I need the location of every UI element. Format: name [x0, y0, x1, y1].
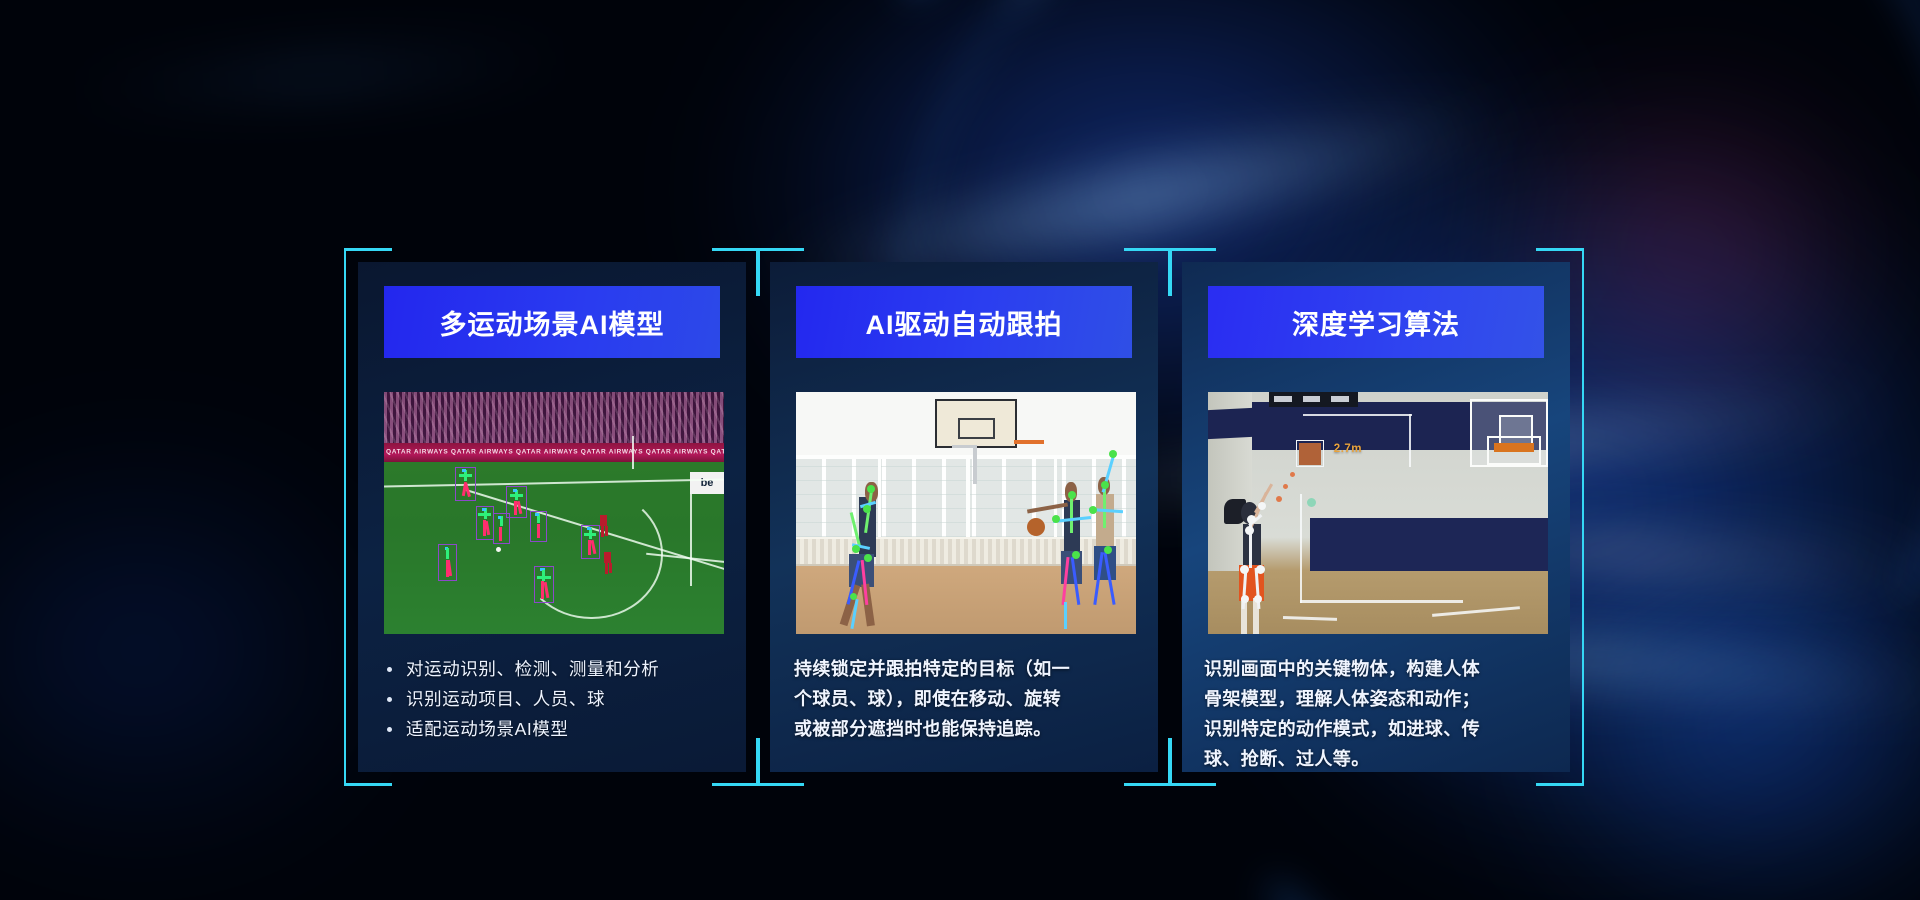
tracking-guide-post	[1300, 494, 1303, 603]
detected-ball	[1299, 443, 1321, 465]
frame-bracket-top-right	[1124, 248, 1172, 251]
scoreboard	[1269, 392, 1357, 407]
player-red-kit	[602, 552, 613, 574]
frame-bracket-bottom-right-stub	[1170, 738, 1172, 786]
paragraph-line: 球、抢断、过人等。	[1204, 744, 1548, 774]
feature-card-ai-auto-tracking[interactable]: AI驱动自动跟拍	[770, 262, 1158, 772]
card-description-2: 持续锁定并跟拍特定的目标（如一 个球员、球），即使在移动、旋转 或被部分遮挡时也…	[770, 654, 1158, 744]
detected-player	[455, 467, 475, 501]
skeleton-limb	[459, 474, 472, 477]
frame-right-rail	[1582, 248, 1584, 786]
detected-player	[530, 511, 547, 542]
paragraph-line: 识别特定的动作模式，如进球、传	[1204, 714, 1548, 744]
card-title-bar-2: AI驱动自动跟拍	[796, 286, 1132, 358]
basketball-hoop	[1014, 440, 1045, 444]
advertising-banner-text: QATAR AIRWAYS QATAR AIRWAYS QATAR AIRWAY…	[386, 449, 724, 456]
card-title-bar-1: 多运动场景AI模型	[384, 286, 720, 358]
tracked-player-right-b	[1082, 472, 1136, 627]
frame-bracket-bottom-right	[712, 783, 760, 786]
wireframe-joint	[1241, 595, 1249, 603]
frame-bracket-bottom-left	[756, 783, 804, 786]
window-mullion-vertical	[966, 455, 970, 537]
skeleton-joint	[1109, 450, 1117, 458]
skeleton-bone	[1064, 602, 1067, 629]
ball-detection-box	[1296, 440, 1323, 467]
player-legs	[605, 563, 608, 574]
frame-bracket-top-left	[756, 248, 804, 251]
paragraph-line: 识别画面中的关键物体，构建人体	[1204, 654, 1548, 684]
card-description-3: 识别画面中的关键物体，构建人体 骨架模型，理解人体姿态和动作； 识别特定的动作模…	[1182, 654, 1570, 774]
list-item: 适配运动场景AI模型	[380, 714, 724, 744]
detected-player	[534, 566, 554, 602]
wireframe-joint	[1254, 595, 1262, 603]
card-title-3: 深度学习算法	[1292, 303, 1460, 342]
skeleton-limb	[462, 469, 466, 472]
wireframe-joint	[1258, 502, 1266, 510]
frame-left-rail	[344, 248, 346, 786]
hoop-support-post	[973, 445, 977, 484]
tracked-player-left	[837, 479, 905, 629]
indoor-basketball-skeleton-pose-thumbnail	[796, 392, 1136, 634]
skeleton-limb	[537, 576, 551, 579]
detected-player	[581, 525, 600, 559]
feature-card-deep-learning-algorithm[interactable]: 深度学习算法	[1182, 262, 1570, 772]
skeleton-limb	[498, 516, 501, 519]
wireframe-joint	[1256, 565, 1265, 574]
tracking-guide-horizontal	[1303, 414, 1412, 417]
scoreboard-segment	[1274, 396, 1292, 402]
goal-post	[632, 436, 634, 470]
skeleton-limb	[499, 527, 502, 541]
skeleton-bone	[1070, 494, 1073, 533]
frame-bracket-top-left	[1168, 248, 1216, 251]
frame-bracket-top-left-stub	[756, 248, 758, 296]
advertising-banner: QATAR AIRWAYS QATAR AIRWAYS QATAR AIRWAY…	[384, 443, 724, 462]
skeleton-limb	[537, 524, 540, 538]
player-legs	[609, 563, 612, 573]
backboard-inner-square	[958, 418, 995, 438]
detected-player	[493, 513, 510, 544]
card-title-2: AI驱动自动跟拍	[866, 303, 1063, 342]
frame-bracket-bottom-left-stub	[756, 738, 758, 786]
frame-bracket-bottom-right	[1536, 783, 1584, 786]
soccer-pitch-pose-detection-thumbnail: QATAR AIRWAYS QATAR AIRWAYS QATAR AIRWAY…	[384, 392, 724, 634]
frame-bracket-bottom-right-stub	[758, 738, 760, 786]
ad-board: be	[690, 472, 724, 494]
feature-bullet-list: 对运动识别、检测、测量和分析 识别运动项目、人员、球 适配运动场景AI模型	[380, 654, 724, 744]
card-title-1: 多运动场景AI模型	[440, 303, 665, 342]
detected-player	[476, 506, 495, 540]
detected-player	[438, 544, 457, 580]
pitch-line-right-box	[690, 494, 692, 586]
paragraph-line: 个球员、球），即使在移动、旋转	[792, 684, 1136, 714]
skeleton-joint	[1052, 515, 1060, 523]
player-legs	[605, 526, 608, 536]
paragraph-line: 持续锁定并跟拍特定的目标（如一	[792, 654, 1136, 684]
basketball-shot-tracking-thumbnail: 2.7m	[1208, 392, 1548, 634]
rim-detection-box	[1487, 436, 1541, 465]
scoreboard-segment	[1331, 396, 1349, 402]
player-legs	[601, 526, 604, 537]
frame-bracket-top-left-stub	[1168, 248, 1170, 296]
feature-card-multi-sport-ai-model[interactable]: 多运动场景AI模型 QATAR AIRWAYS QATAR AIRWAYS QA…	[358, 262, 746, 772]
feature-card-row: 多运动场景AI模型 QATAR AIRWAYS QATAR AIRWAYS QA…	[0, 0, 1920, 900]
player-red-kit	[598, 515, 609, 537]
frame-bracket-top-right	[712, 248, 760, 251]
trajectory-dot	[1283, 484, 1288, 489]
card-title-bar-3: 深度学习算法	[1208, 286, 1544, 358]
skeleton-limb	[510, 494, 523, 497]
trajectory-dot	[1290, 472, 1295, 477]
paragraph-line: 骨架模型，理解人体姿态和动作；	[1204, 684, 1548, 714]
basketball-backboard	[935, 399, 1017, 447]
frame-bracket-bottom-left	[1168, 783, 1216, 786]
paragraph-line: 或被部分遮挡时也能保持追踪。	[792, 714, 1136, 744]
frame-bracket-top-right-stub	[1170, 248, 1172, 296]
skeleton-joint	[863, 505, 871, 513]
skeleton-limb	[446, 548, 449, 559]
player-torso	[604, 552, 611, 563]
scoreboard-segment	[1303, 396, 1321, 402]
skeleton-joint	[1072, 551, 1080, 559]
shooting-player	[1228, 496, 1282, 634]
distance-measurement-label: 2.7m	[1334, 443, 1362, 455]
frame-bracket-bottom-left	[344, 783, 392, 786]
skeleton-limb	[513, 489, 517, 492]
card-description-1: 对运动识别、检测、测量和分析 识别运动项目、人员、球 适配运动场景AI模型	[358, 654, 746, 744]
tracking-guide-floor	[1300, 600, 1463, 603]
slide-canvas: 多运动场景AI模型 QATAR AIRWAYS QATAR AIRWAYS QA…	[0, 0, 1920, 900]
navy-wall-padding	[1310, 518, 1548, 576]
skeleton-limb	[482, 508, 485, 511]
basketball	[1027, 518, 1045, 536]
navy-wall-band-left	[1208, 408, 1252, 439]
frame-bracket-top-right	[1536, 248, 1584, 251]
skeleton-limb	[535, 513, 538, 516]
list-item: 对运动识别、检测、测量和分析	[380, 654, 724, 684]
frame-bracket-bottom-left-stub	[1168, 738, 1170, 786]
skeleton-limb	[478, 513, 490, 516]
frame-bracket-top-right-stub	[758, 248, 760, 296]
frame-bracket-top-left	[344, 248, 392, 251]
skeleton-limb	[584, 533, 596, 536]
frame-bracket-bottom-right	[1124, 783, 1172, 786]
tracking-guide-vertical	[1409, 414, 1412, 467]
skeleton-joint	[852, 545, 860, 553]
list-item: 识别运动项目、人员、球	[380, 684, 724, 714]
player-torso	[600, 515, 607, 526]
skeleton-limb	[587, 527, 591, 530]
